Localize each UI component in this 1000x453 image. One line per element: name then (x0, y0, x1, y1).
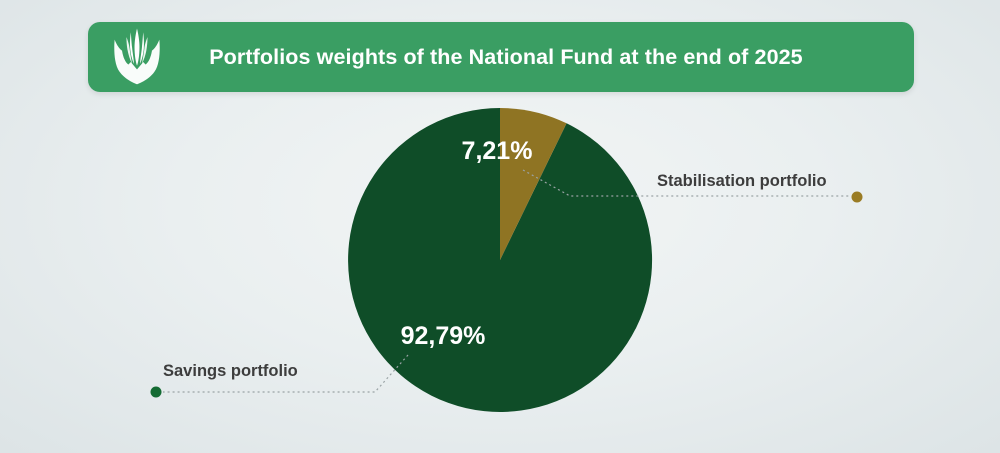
legend-dot-stabilisation (852, 192, 863, 203)
legend-dot-savings (151, 387, 162, 398)
legend-label-stabilisation[interactable]: Stabilisation portfolio (657, 172, 827, 191)
slice-value-stabilisation: 7,21% (462, 137, 533, 165)
pie-chart: 7,21% 92,79% Stabilisation portfolio Sav… (0, 0, 1000, 453)
legend-label-savings[interactable]: Savings portfolio (163, 362, 298, 381)
chart-canvas: Portfolios weights of the National Fund … (0, 0, 1000, 453)
slice-value-savings: 92,79% (401, 322, 486, 350)
pie-chart-svg: 7,21% 92,79% (0, 0, 1000, 453)
